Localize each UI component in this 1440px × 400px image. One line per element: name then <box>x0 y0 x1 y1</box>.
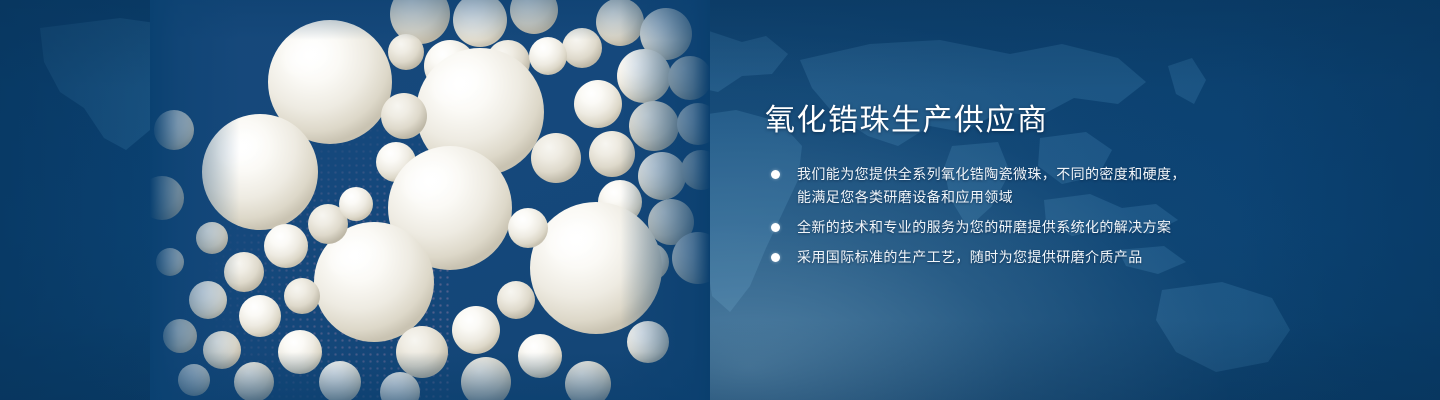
list-item: 全新的技术和专业的服务为您的研磨提供系统化的解决方案 <box>765 216 1385 239</box>
zirconia-ceramic-beads-photo <box>150 0 710 400</box>
list-item-line: 全新的技术和专业的服务为您的研磨提供系统化的解决方案 <box>797 216 1385 239</box>
list-item-line: 能满足您各类研磨设备和应用领域 <box>797 186 1385 209</box>
list-item-line: 我们能为您提供全系列氧化锆陶瓷微珠，不同的密度和硬度， <box>797 163 1385 186</box>
hero-banner: 氧化锆珠生产供应商 我们能为您提供全系列氧化锆陶瓷微珠，不同的密度和硬度， 能满… <box>0 0 1440 400</box>
bullet-dot-icon <box>771 170 780 179</box>
bullet-dot-icon <box>771 223 780 232</box>
feature-list: 我们能为您提供全系列氧化锆陶瓷微珠，不同的密度和硬度， 能满足您各类研磨设备和应… <box>765 163 1385 269</box>
bullet-dot-icon <box>771 253 780 262</box>
list-item: 我们能为您提供全系列氧化锆陶瓷微珠，不同的密度和硬度， 能满足您各类研磨设备和应… <box>765 163 1385 209</box>
ceramic-beads-illustration <box>150 0 710 400</box>
banner-copy: 氧化锆珠生产供应商 我们能为您提供全系列氧化锆陶瓷微珠，不同的密度和硬度， 能满… <box>765 104 1385 269</box>
page-title: 氧化锆珠生产供应商 <box>765 104 1385 137</box>
list-item: 采用国际标准的生产工艺，随时为您提供研磨介质产品 <box>765 246 1385 269</box>
list-item-line: 采用国际标准的生产工艺，随时为您提供研磨介质产品 <box>797 246 1385 269</box>
